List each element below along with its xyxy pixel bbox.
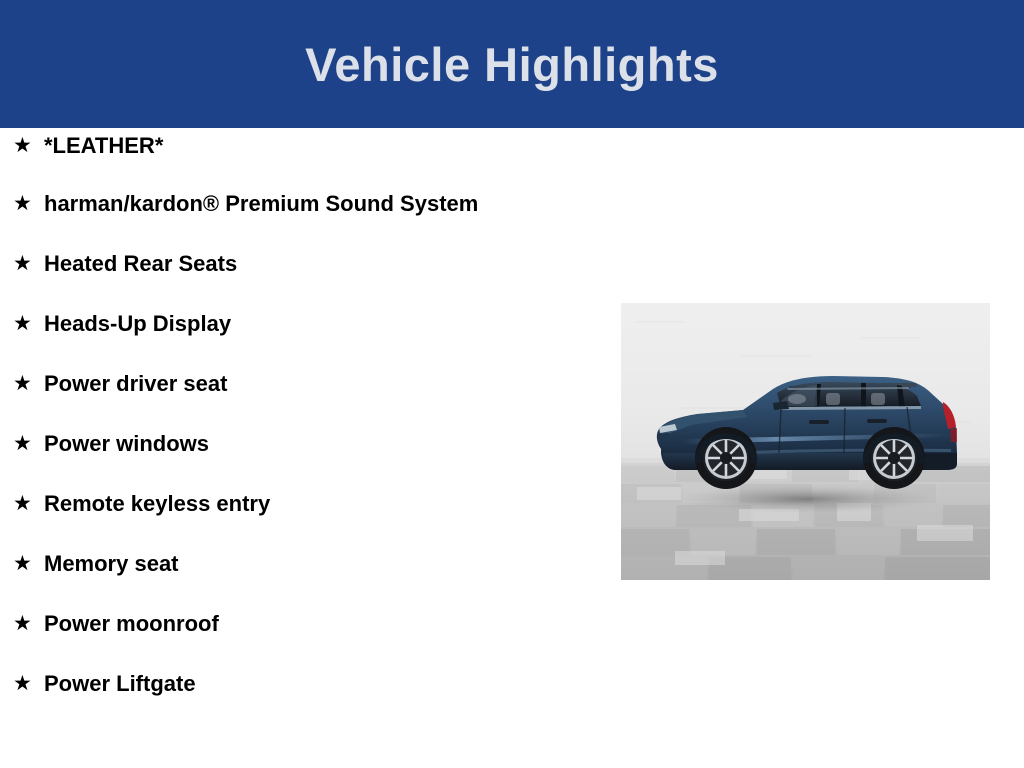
- vehicle-photo: [621, 303, 990, 580]
- star-bullet-icon: ★: [13, 128, 32, 163]
- list-item: ★ Power Liftgate: [0, 666, 600, 726]
- star-bullet-icon: ★: [13, 186, 32, 221]
- star-bullet-icon: ★: [13, 366, 32, 401]
- star-bullet-icon: ★: [13, 306, 32, 341]
- page-title: Vehicle Highlights: [305, 41, 719, 88]
- list-item: ★ Remote keyless entry: [0, 486, 600, 546]
- star-bullet-icon: ★: [13, 486, 32, 521]
- star-bullet-icon: ★: [13, 666, 32, 701]
- star-bullet-icon: ★: [13, 546, 32, 581]
- header-bar: Vehicle Highlights: [0, 0, 1024, 128]
- list-item: ★ Power moonroof: [0, 606, 600, 666]
- list-item-label: *LEATHER*: [44, 128, 163, 163]
- list-item: ★ Power windows: [0, 426, 600, 486]
- vehicle-highlights-list: ★ *LEATHER* ★ harman/kardon® Premium Sou…: [0, 128, 600, 726]
- list-item-label: harman/kardon® Premium Sound System: [44, 186, 478, 221]
- list-item-label: Power windows: [44, 426, 209, 461]
- list-item-label: Heads-Up Display: [44, 306, 231, 341]
- list-item: ★ Heads-Up Display: [0, 306, 600, 366]
- star-bullet-icon: ★: [13, 426, 32, 461]
- list-item: ★ harman/kardon® Premium Sound System: [0, 186, 600, 246]
- list-item-label: Power driver seat: [44, 366, 227, 401]
- list-item: ★ *LEATHER*: [0, 128, 600, 186]
- list-item: ★ Memory seat: [0, 546, 600, 606]
- list-item: ★ Power driver seat: [0, 366, 600, 426]
- list-item-label: Power moonroof: [44, 606, 219, 641]
- list-item-label: Heated Rear Seats: [44, 246, 237, 281]
- list-item: ★ Heated Rear Seats: [0, 246, 600, 306]
- list-item-label: Power Liftgate: [44, 666, 196, 701]
- star-bullet-icon: ★: [13, 246, 32, 281]
- vehicle-photo-image: [621, 303, 990, 580]
- list-item-label: Memory seat: [44, 546, 179, 581]
- star-bullet-icon: ★: [13, 606, 32, 641]
- list-item-label: Remote keyless entry: [44, 486, 270, 521]
